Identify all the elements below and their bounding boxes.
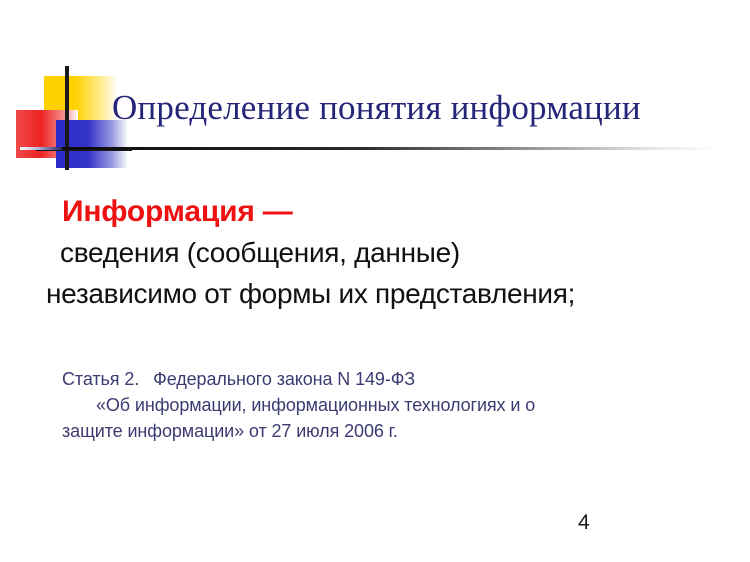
title-divider bbox=[62, 147, 722, 150]
slide-title: Определение понятия информации bbox=[112, 86, 712, 130]
citation-article: Статья 2. bbox=[62, 369, 139, 389]
definition-line-2: независимо от формы их представления; bbox=[46, 273, 750, 314]
logo-vertical-line bbox=[65, 66, 69, 170]
citation-line-1: Статья 2.Федерального закона N 149-ФЗ bbox=[62, 366, 750, 392]
presentation-slide: Определение понятия информации Информаци… bbox=[0, 0, 750, 562]
citation-block: Статья 2.Федерального закона N 149-ФЗ «О… bbox=[0, 366, 750, 444]
citation-line-2: «Об информации, информационных технологи… bbox=[96, 392, 750, 418]
title-divider-stub bbox=[20, 147, 68, 150]
citation-law: Федерального закона N 149-ФЗ bbox=[153, 369, 415, 389]
definition-term: Информация — bbox=[62, 192, 750, 232]
decorative-logo bbox=[8, 62, 128, 172]
definition-block: Информация — сведения (сообщения, данные… bbox=[0, 192, 750, 314]
page-number: 4 bbox=[578, 511, 590, 535]
citation-line-3: защите информации» от 27 июля 2006 г. bbox=[62, 418, 750, 444]
definition-line-1: сведения (сообщения, данные) bbox=[60, 232, 750, 273]
